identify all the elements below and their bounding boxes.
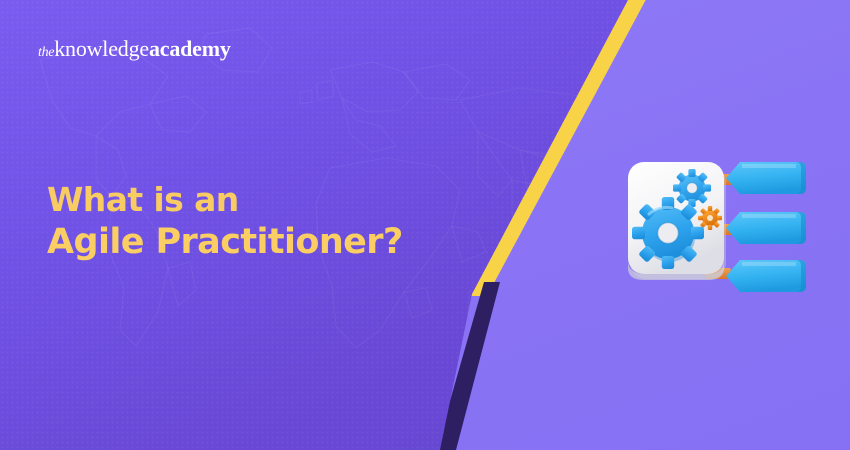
tag-bottom xyxy=(726,260,806,292)
headline-line-2: Agile Practitioner? xyxy=(47,221,403,264)
tag-top xyxy=(726,162,806,194)
page-title: What is an Agile Practitioner? xyxy=(47,178,403,264)
large-gear xyxy=(632,197,704,269)
tag-middle xyxy=(726,212,806,244)
brand-logo[interactable]: theknowledgeacademy xyxy=(38,38,231,60)
logo-the: the xyxy=(38,45,54,60)
logo-knowledge: knowledge xyxy=(54,36,149,61)
small-gear xyxy=(698,206,722,230)
logo-academy: academy xyxy=(149,36,231,61)
medium-gear xyxy=(673,169,711,207)
headline-line-1: What is an xyxy=(47,180,239,219)
gears-and-tags-illustration xyxy=(610,140,825,315)
promo-banner: theknowledgeacademy What is an Agile Pra… xyxy=(0,0,850,450)
